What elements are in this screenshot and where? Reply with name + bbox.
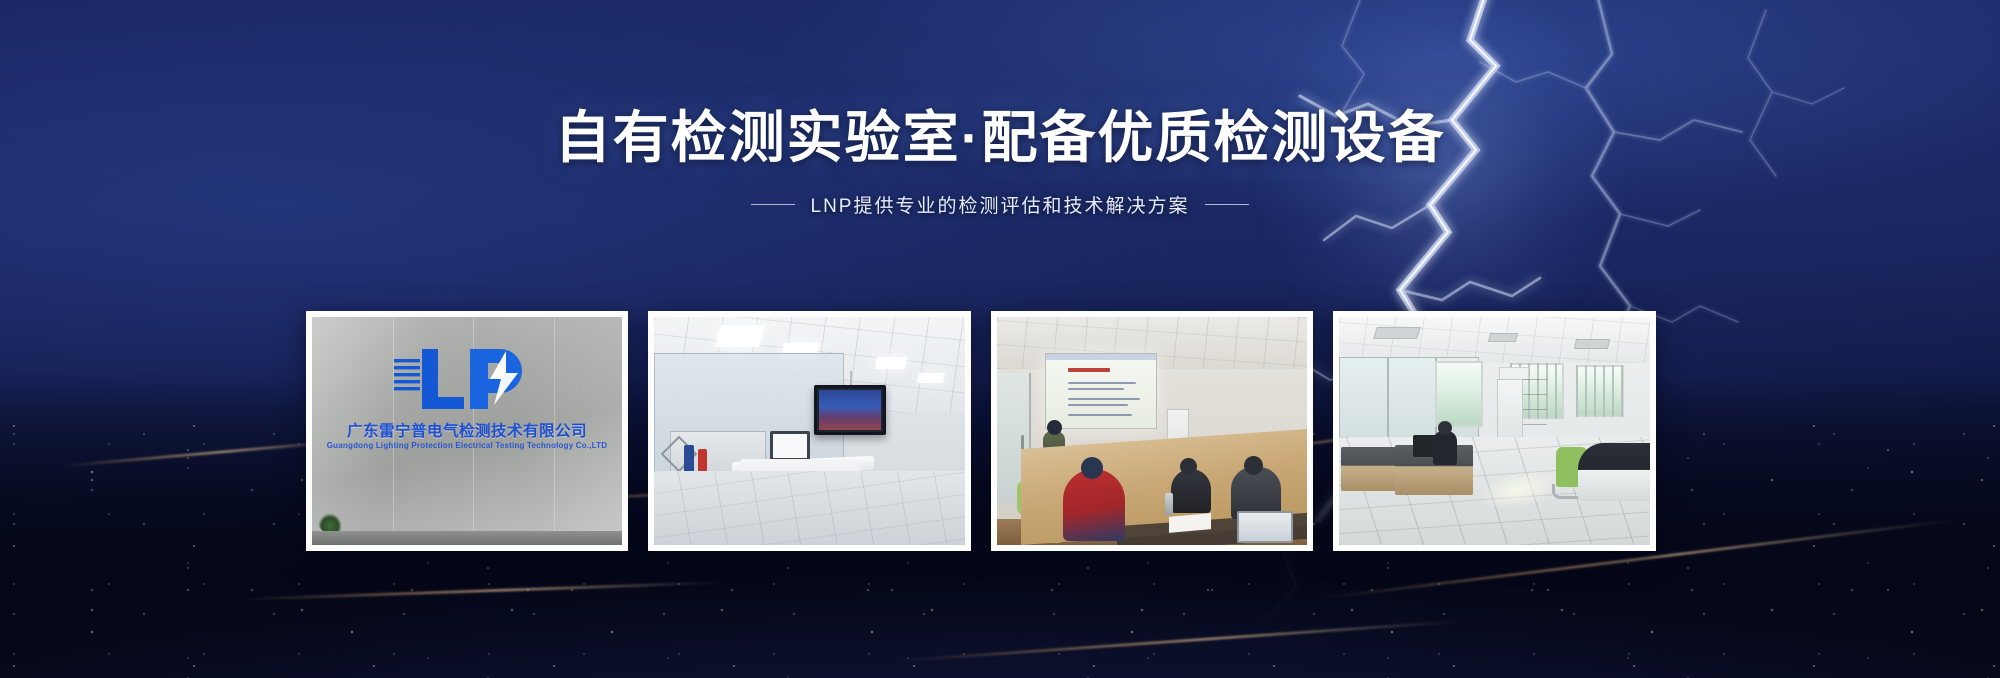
floor-tile-grid xyxy=(654,471,965,545)
window xyxy=(1435,361,1483,427)
slide-line xyxy=(1068,404,1128,406)
office-worker xyxy=(1433,431,1457,465)
hero-banner: 自有检测实验室·配备优质检测设备 LNP提供专业的检测评估和技术解决方案 xyxy=(0,0,2000,678)
photo-gallery: 广东雷宁普电气检测技术有限公司 Guangdong Lighting Prote… xyxy=(306,311,1656,551)
ceiling-light xyxy=(715,325,765,347)
gallery-item-company-signage[interactable]: 广东雷宁普电气检测技术有限公司 Guangdong Lighting Prote… xyxy=(306,311,628,551)
ceiling-light xyxy=(875,357,908,369)
gallery-item-meeting-room[interactable] xyxy=(991,311,1313,551)
water-bottle xyxy=(1165,493,1173,515)
attendee-person xyxy=(1171,469,1211,513)
hero-headline: 自有检测实验室·配备优质检测设备 LNP提供专业的检测评估和技术解决方案 xyxy=(0,105,2000,218)
photo-company-signage: 广东雷宁普电气检测技术有限公司 Guangdong Lighting Prote… xyxy=(312,317,622,545)
ceiling-vent xyxy=(1488,333,1518,342)
divider-left xyxy=(751,204,795,205)
attendee-head xyxy=(1180,458,1197,475)
gallery-item-office-area[interactable] xyxy=(1333,311,1656,551)
office-worker-head xyxy=(1438,421,1452,435)
slide-heading xyxy=(1068,368,1110,372)
monitor-screen xyxy=(819,390,881,430)
lnp-logo-icon xyxy=(390,345,540,411)
page-subtitle: LNP提供专业的检测评估和技术解决方案 xyxy=(811,191,1190,218)
ceiling-vent xyxy=(1574,339,1610,349)
slide-line xyxy=(1068,398,1140,400)
laptop xyxy=(1237,511,1293,543)
ceiling-vent xyxy=(1373,327,1421,339)
attendee-head xyxy=(1081,457,1103,479)
slide-line xyxy=(1068,382,1136,384)
photo-testing-laboratory xyxy=(654,317,965,545)
divider-right xyxy=(1205,204,1249,205)
company-name-cn: 广东雷宁普电气检测技术有限公司 xyxy=(312,419,622,441)
subtitle-row: LNP提供专业的检测评估和技术解决方案 xyxy=(0,191,2000,218)
photo-meeting-room xyxy=(997,317,1307,545)
page-title: 自有检测实验室·配备优质检测设备 xyxy=(0,105,2000,171)
attendee-person-red-jacket xyxy=(1063,469,1125,541)
attendee-head xyxy=(1244,456,1263,475)
projection-screen xyxy=(1045,353,1157,429)
reception-counter xyxy=(1578,443,1650,501)
slide-titlebar xyxy=(1046,354,1156,360)
wall-monitor xyxy=(814,385,886,435)
gallery-item-testing-laboratory[interactable] xyxy=(648,311,971,551)
slide-line xyxy=(1068,388,1124,390)
slide-line xyxy=(1068,414,1132,416)
console-monitor xyxy=(770,431,810,461)
window-bars xyxy=(1576,365,1624,417)
company-name-en: Guangdong Lighting Protection Electrical… xyxy=(312,441,622,450)
floor-strip xyxy=(312,531,622,545)
ceiling-light xyxy=(917,373,945,383)
photo-office-area xyxy=(1339,317,1650,545)
presenter-head xyxy=(1047,420,1062,435)
